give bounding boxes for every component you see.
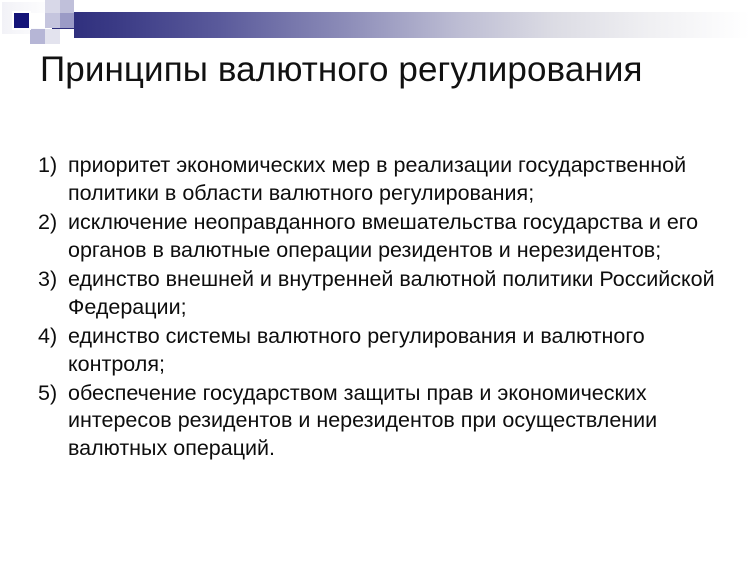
decoration-square-white-mid: [30, 13, 45, 28]
list-item-text: обеспечение государством защиты прав и э…: [68, 381, 657, 461]
principles-list: 1) приоритет экономических мер в реализа…: [38, 152, 728, 464]
header-gradient-bar: [52, 12, 750, 38]
decoration-square-mid: [60, 13, 74, 28]
list-item-marker: 5): [38, 380, 66, 408]
list-item: 3) единство внешней и внутренней валютно…: [38, 266, 728, 322]
list-item-text: единство внешней и внутренней валютной п…: [68, 267, 715, 319]
list-item-marker: 3): [38, 266, 66, 294]
presentation-slide: Принципы валютного регулирования 1) прио…: [0, 0, 750, 561]
list-item-marker: 1): [38, 152, 66, 180]
decoration-square-lavender-lower: [30, 29, 45, 44]
header-decoration: [0, 0, 750, 50]
list-item: 1) приоритет экономических мер в реализа…: [38, 152, 728, 208]
list-item-marker: 4): [38, 323, 66, 351]
decoration-square-white-lower: [60, 29, 74, 42]
decoration-square-light-top: [45, 0, 60, 13]
list-item-text: единство системы валютного регулирования…: [68, 324, 645, 376]
list-item-text: приоритет экономических мер в реализации…: [68, 153, 686, 205]
list-item-marker: 2): [38, 209, 66, 237]
list-item: 4) единство системы валютного регулирова…: [38, 323, 728, 379]
decoration-square-mid-top: [60, 0, 74, 13]
list-item-text: исключение неоправданного вмешательства …: [68, 210, 698, 262]
page-title: Принципы валютного регулирования: [40, 48, 700, 93]
decoration-square-light-mid: [45, 13, 60, 28]
decoration-square-navy: [14, 13, 29, 28]
decoration-square-pale-lower: [45, 29, 60, 44]
list-item: 5) обеспечение государством защиты прав …: [38, 380, 728, 464]
list-item: 2) исключение неоправданного вмешательст…: [38, 209, 728, 265]
